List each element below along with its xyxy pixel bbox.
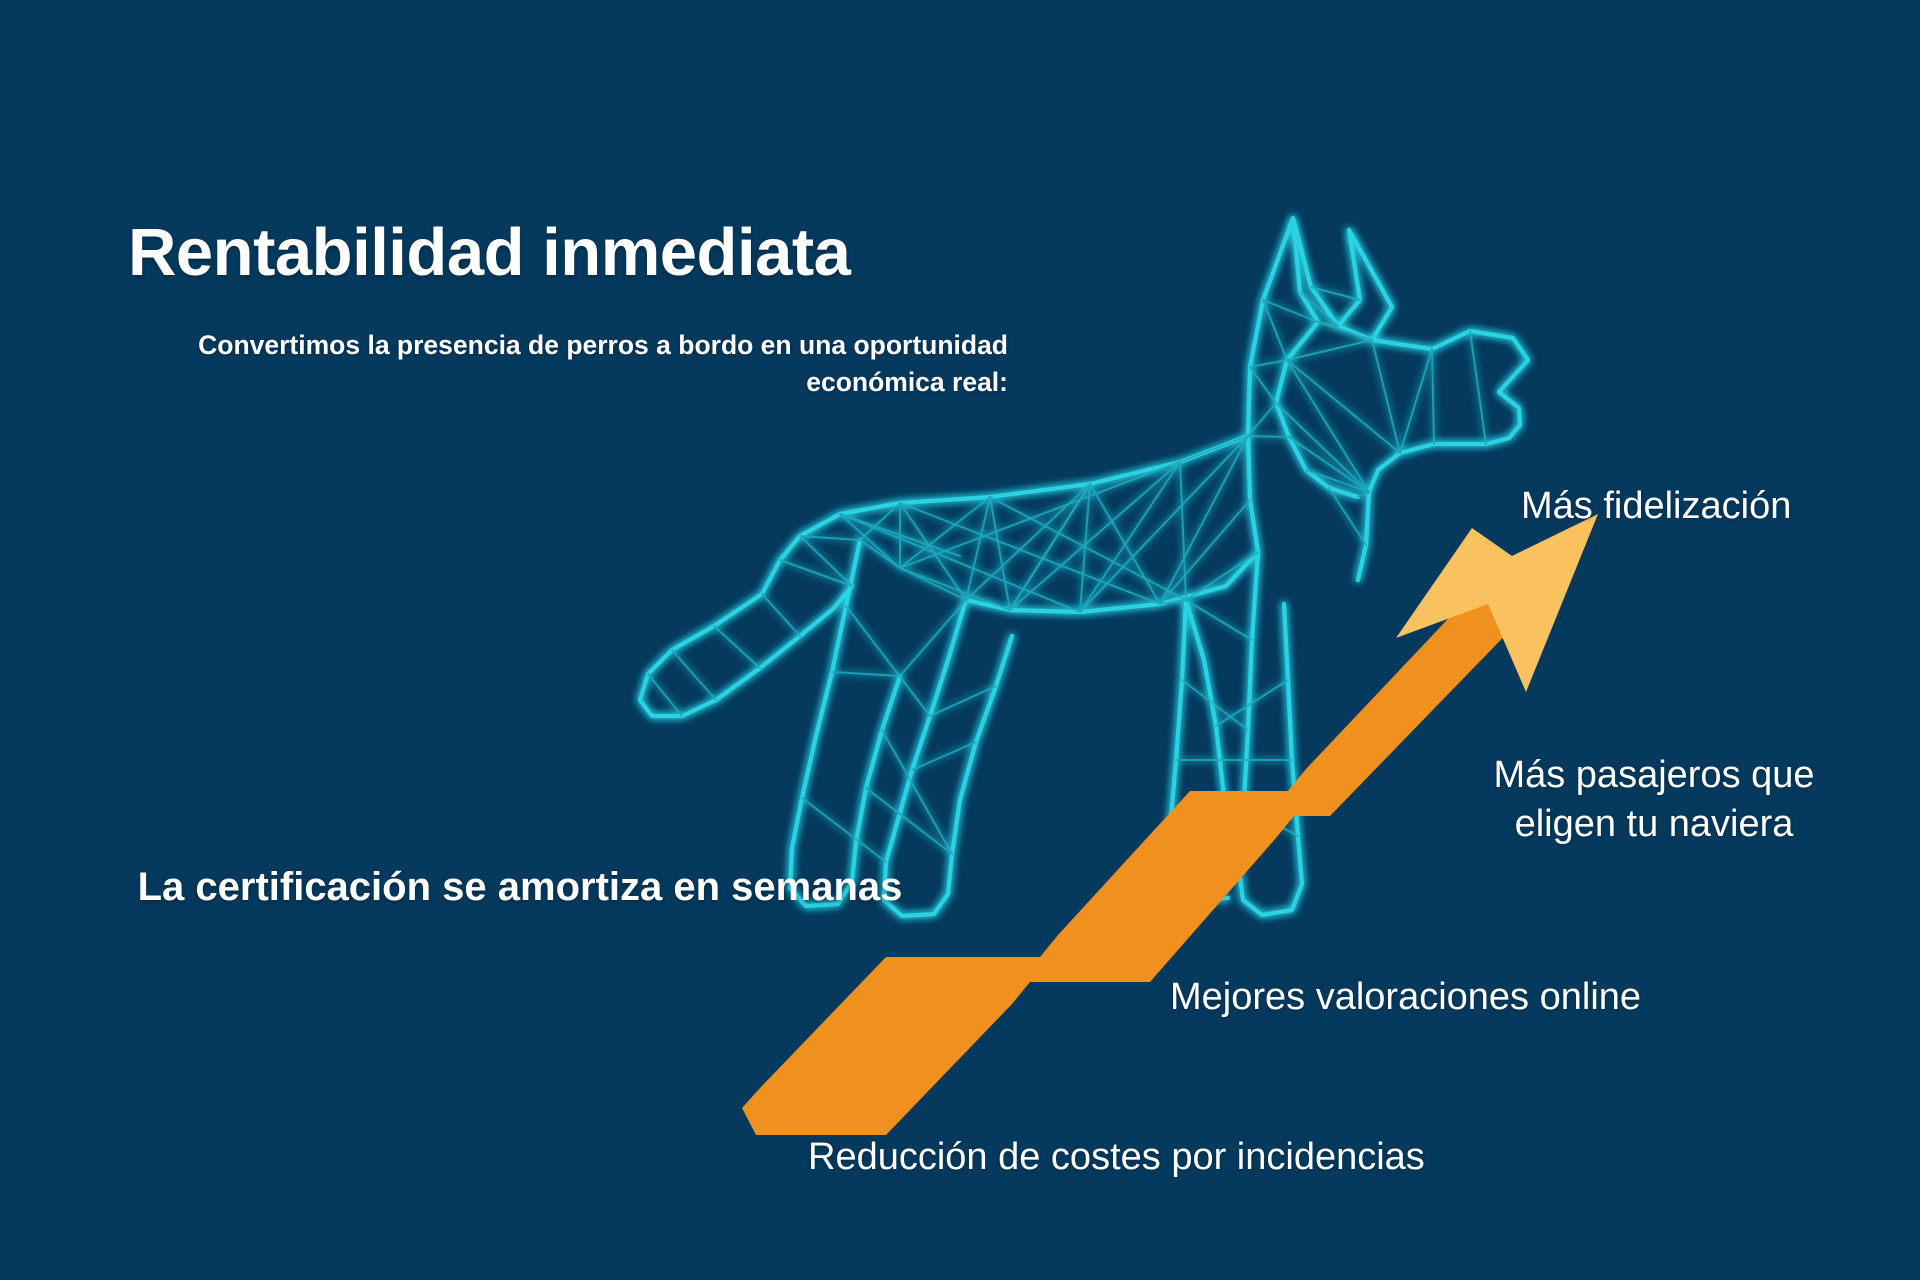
payback-statement: La certificación se amortiza en semanas xyxy=(90,862,950,913)
page-title: Rentabilidad inmediata xyxy=(128,218,850,288)
text-layer: Rentabilidad inmediata Convertimos la pr… xyxy=(0,0,1920,1280)
benefit-label-passengers: Más pasajeros que eligen tu naviera xyxy=(1444,751,1864,850)
benefit-label-reviews: Mejores valoraciones online xyxy=(1170,973,1641,1022)
page-subtitle: Convertimos la presencia de perros a bor… xyxy=(148,327,1008,402)
slide-canvas: Rentabilidad inmediata Convertimos la pr… xyxy=(0,0,1920,1280)
benefit-label-loyalty: Más fidelización xyxy=(1521,482,1791,531)
benefit-label-costs: Reducción de costes por incidencias xyxy=(808,1133,1425,1182)
